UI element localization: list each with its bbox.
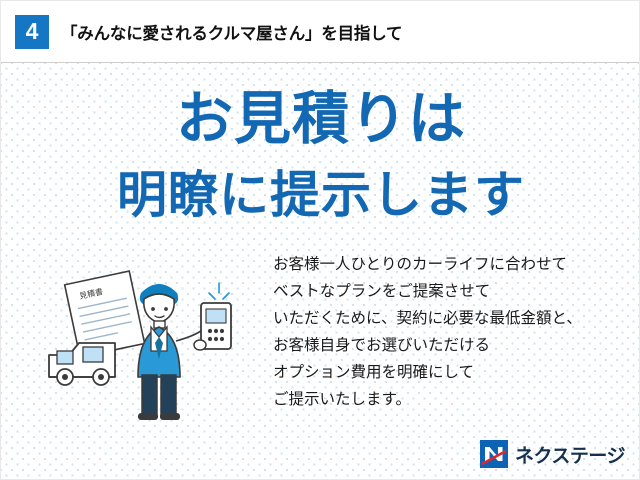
- promo-banner: 4 「みんなに愛されるクルマ屋さん」を目指して お見積りは 明瞭に提示します お…: [0, 0, 640, 480]
- header-bar: 4 「みんなに愛されるクルマ屋さん」を目指して: [1, 1, 640, 63]
- van-icon: [49, 343, 115, 385]
- description-line-6: ご提示いたします。: [273, 386, 625, 413]
- section-number-badge: 4: [15, 15, 49, 49]
- headline: お見積りは 明瞭に提示します: [1, 63, 640, 220]
- brand-name: ネクステージ: [515, 441, 625, 468]
- description-line-1: お客様一人ひとりのカーライフに合わせて: [273, 251, 625, 278]
- headline-line-2: 明瞭に提示します: [1, 148, 640, 220]
- nextage-n-icon: [480, 440, 508, 468]
- description-line-3: いただくために、契約に必要な最低金額と、: [273, 305, 625, 332]
- description-line-5: オプション費用を明確にして: [273, 359, 625, 386]
- description-line-2: ベストなプランをご提案させて: [273, 278, 625, 305]
- sparkle-icon: [209, 283, 229, 299]
- description-text: お客様一人ひとりのカーライフに合わせて ベストなプランをご提案させて いただくた…: [273, 251, 625, 413]
- salesperson-figure: [138, 284, 231, 420]
- headline-line-1: お見積りは: [1, 63, 640, 148]
- description-line-4: お客様自身でお選びいただける: [273, 332, 625, 359]
- header-title: 「みんなに愛されるクルマ屋さん」を目指して: [61, 20, 402, 44]
- content-area: お見積りは 明瞭に提示します お客様一人ひとりのカーライフに合わせて ベストなプ…: [1, 63, 640, 480]
- salesperson-illustration: 見積書: [43, 259, 268, 424]
- brand-logo: ネクステージ: [480, 439, 625, 469]
